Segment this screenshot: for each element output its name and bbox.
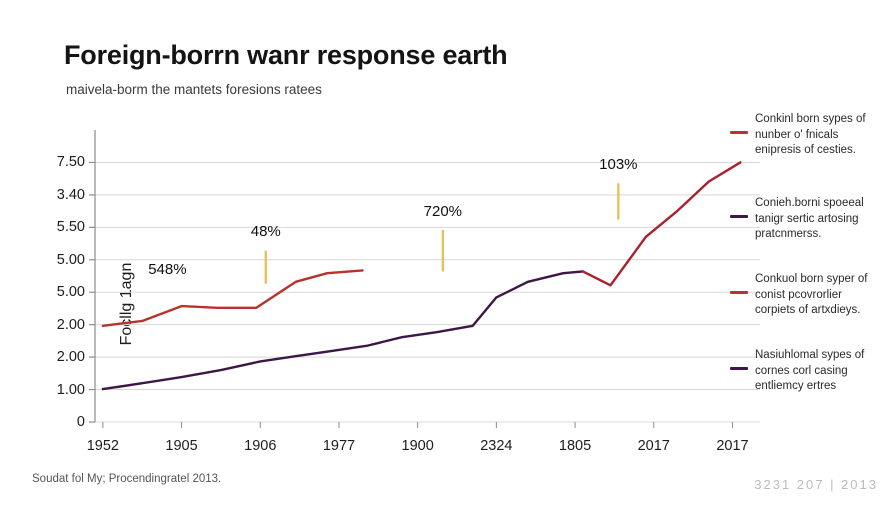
corner-note: 3231 207 | 2013 [754,477,878,492]
annotation-label: 720% [424,203,462,220]
y-tick-label: 0 [27,414,85,430]
x-tick-label: 2017 [716,438,748,454]
legend-item-2[interactable]: Conieh.borni spoeealtanigr sertic artosi… [730,196,885,243]
y-tick-label: 5.00 [27,284,85,300]
chart-plot-area: Focllg 1agn 7.503.405.505.005.002.002.00… [95,130,760,422]
x-tick-label: 2324 [480,438,512,454]
legend-item-3[interactable]: Conkuol born syper ofconist pcovrorlierc… [730,272,885,319]
annotation-ticks [266,183,619,283]
annotation-label: 548% [148,261,186,278]
y-tick-label: 1.00 [27,382,85,398]
annotation-label: 48% [251,223,281,240]
series-line [103,271,583,389]
y-tick-label: 7.50 [27,154,85,170]
x-tick-label: 1977 [323,438,355,454]
y-axis-tick-labels: 7.503.405.505.005.002.002.001.000 [23,130,85,422]
legend-label: Conieh.borni spoeealtanigr sertic artosi… [755,196,885,243]
page-title: Foreign-borrn wanr response earth [64,40,507,71]
series-line [103,270,363,325]
y-tick-label: 3.40 [27,187,85,203]
x-tick-label: 1805 [559,438,591,454]
x-tick-label: 1952 [87,438,119,454]
legend-color-swatch [730,131,748,134]
gridlines [95,162,760,422]
x-tick-label: 1900 [402,438,434,454]
y-tick-label: 2.00 [27,317,85,333]
y-tick-label: 2.00 [27,349,85,365]
y-tick-label: 5.50 [27,219,85,235]
legend-label: Nasiuhlomal sypes ofcornes corl casingen… [755,348,885,395]
axis-spine [89,130,732,428]
series-line [583,162,740,285]
legend-item-1[interactable]: Conkinl born sypes ofnunber o' fnicalsen… [730,112,885,159]
page-subtitle: maivela-borm the mantets foresions ratee… [66,82,322,97]
x-axis-tick-labels: 195219051906197719002324180520172017 [95,426,760,456]
chart-canvas [95,130,760,422]
legend-color-swatch [730,291,748,294]
legend-item-4[interactable]: Nasiuhlomal sypes ofcornes corl casingen… [730,348,885,395]
legend-color-swatch [730,367,748,370]
legend-label: Conkinl born sypes ofnunber o' fnicalsen… [755,112,885,159]
annotation-label: 103% [599,156,637,173]
data-series-lines [103,162,740,389]
x-tick-label: 1905 [165,438,197,454]
x-tick-label: 2017 [638,438,670,454]
source-note: Soudat fol My; Procendingratel 2013. [32,473,221,485]
legend-label: Conkuol born syper ofconist pcovrorlierc… [755,272,885,319]
legend-color-swatch [730,215,748,218]
y-tick-label: 5.00 [27,252,85,268]
x-tick-label: 1906 [244,438,276,454]
